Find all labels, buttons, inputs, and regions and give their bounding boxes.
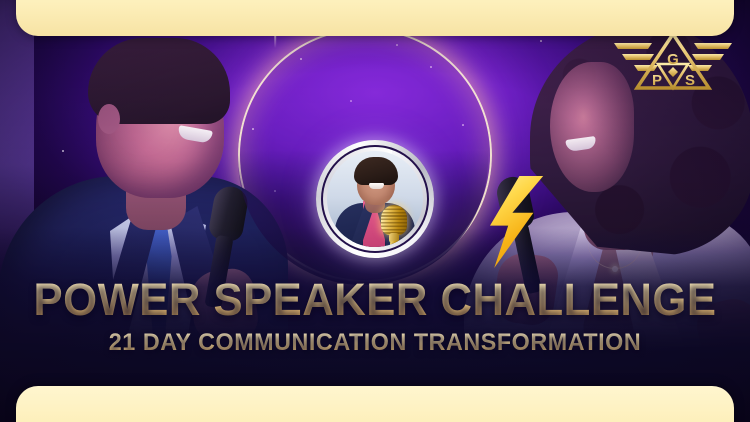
bottom-accent-bar: [16, 386, 734, 422]
top-accent-bar: [16, 0, 734, 36]
logo-letter-s: S: [685, 72, 695, 89]
headline-block: POWER SPEAKER CHALLENGE POWER SPEAKER CH…: [0, 278, 750, 356]
promo-banner: G P S POWER SPEAKER CHALLENGE POWER SPEA…: [0, 0, 750, 422]
page-title: POWER SPEAKER CHALLENGE: [11, 278, 739, 322]
gold-microphone-head: [381, 205, 407, 235]
gps-logo-svg: G P S: [612, 26, 734, 98]
logo-diamond-icon: [668, 67, 678, 77]
gold-microphone-stem: [390, 241, 398, 247]
page-subtitle: 21 DAY COMMUNICATION TRANSFORMATION: [19, 330, 732, 356]
featured-speaker-portrait: [316, 140, 434, 258]
logo-letter-g: G: [667, 51, 679, 68]
portrait-image: [327, 151, 423, 247]
portrait-hair: [354, 157, 398, 185]
portrait-smile: [369, 183, 384, 189]
logo-letter-p: P: [652, 72, 662, 89]
gold-microphone-icon: [381, 205, 407, 247]
gps-logo: G P S: [612, 26, 734, 98]
